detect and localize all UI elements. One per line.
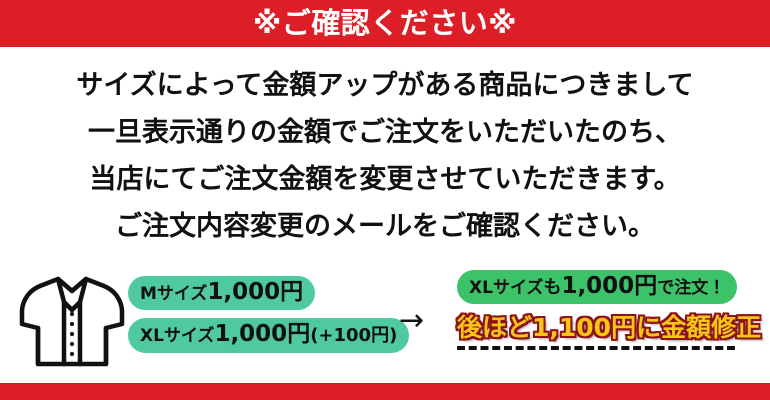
notice-line-2: 一旦表示通りの金額でご注文をいただいたのち、 <box>0 109 770 156</box>
xl-size-price-pill: XLサイズ1,000円(+100円) <box>128 318 409 352</box>
price-comparison: Mサイズ1,000円 XLサイズ1,000円(+100円) XLサイズも1,00… <box>0 262 770 377</box>
arrow-right-icon: → <box>399 306 424 336</box>
header-title: ※ご確認ください※ <box>253 9 517 38</box>
m-size-label: Mサイズ <box>140 284 207 304</box>
notice-line-3: 当店にてご注文金額を変更させていただきます。 <box>0 156 770 203</box>
footer-banner <box>0 383 770 400</box>
xl-size-surcharge: (+100円) <box>310 325 397 346</box>
dashed-underline <box>457 346 735 350</box>
correction-note-wrap: 後ほど1,100円に金額修正 <box>457 314 742 350</box>
xl-order-price-pill: XLサイズも1,000円で注文！ <box>457 270 737 304</box>
shirt-icon <box>18 272 126 372</box>
after-column: XLサイズも1,000円で注文！ 後ほど1,100円に金額修正 <box>457 270 757 350</box>
m-size-price-pill: Mサイズ1,000円 <box>128 276 315 310</box>
xl-order-size-label: XLサイズ <box>469 278 543 298</box>
xl-order-suffix: で注文！ <box>657 278 725 298</box>
xl-size-label: XLサイズ <box>140 326 214 346</box>
promo-banner: ※ご確認ください※ サイズによって金額アップがある商品につきまして 一旦表示通り… <box>0 0 770 400</box>
notice-message: サイズによって金額アップがある商品につきまして 一旦表示通りの金額でご注文をいた… <box>0 62 770 250</box>
correction-note: 後ほど1,100円に金額修正 <box>457 314 742 343</box>
notice-line-4: ご注文内容変更のメールをご確認ください。 <box>0 203 770 250</box>
header-banner: ※ご確認ください※ <box>0 0 770 47</box>
before-column: Mサイズ1,000円 XLサイズ1,000円(+100円) <box>128 276 393 353</box>
xl-size-amount: 1,000円 <box>214 321 310 347</box>
notice-line-1: サイズによって金額アップがある商品につきまして <box>0 62 770 109</box>
xl-order-particle: も <box>543 277 561 298</box>
m-size-amount: 1,000円 <box>207 279 303 305</box>
xl-order-amount: 1,000円 <box>561 273 657 299</box>
